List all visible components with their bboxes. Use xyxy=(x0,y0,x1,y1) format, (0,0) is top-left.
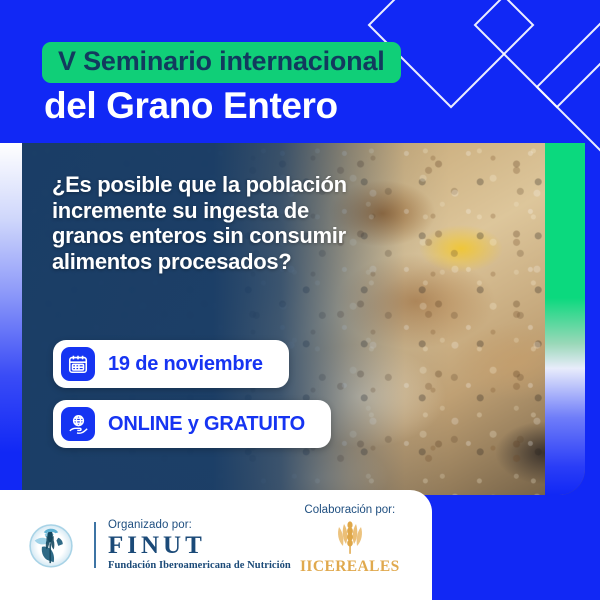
footer-panel: Organizado por: FINUT Fundación Iberoame… xyxy=(0,490,432,600)
organizer-label: Organizado por: xyxy=(108,519,291,531)
collaborator-group: Colaboración por: xyxy=(300,504,400,576)
seminar-pill-label: V Seminario internacional xyxy=(42,42,401,83)
poster-canvas: V Seminario internacional del Grano Ente… xyxy=(0,0,600,600)
finut-tagline: Fundación Iberoamericana de Nutrición xyxy=(108,560,291,571)
question-headline: ¿Es posible que la población incremente … xyxy=(52,172,382,275)
right-edge-gradient xyxy=(545,143,585,495)
title-block: V Seminario internacional del Grano Ente… xyxy=(42,42,401,126)
footer-divider xyxy=(94,522,96,568)
badge-date-label: 19 de noviembre xyxy=(108,353,263,376)
page-title: del Grano Entero xyxy=(44,86,401,126)
collaborator-label: Colaboración por: xyxy=(304,504,395,516)
globe-hand-icon xyxy=(61,407,95,441)
badge-online-label: ONLINE y GRATUITO xyxy=(108,413,305,436)
wheat-icon xyxy=(333,519,367,557)
finut-wordmark: FINUT xyxy=(108,533,291,558)
finut-emblem-icon xyxy=(22,516,80,574)
info-badges: 19 de noviembre ONLINE y GRATUITO xyxy=(53,340,331,448)
organizer-group: Organizado por: FINUT Fundación Iberoame… xyxy=(22,516,291,574)
left-edge-gradient xyxy=(0,143,22,495)
badge-online[interactable]: ONLINE y GRATUITO xyxy=(53,400,331,448)
calendar-icon xyxy=(61,347,95,381)
badge-date[interactable]: 19 de noviembre xyxy=(53,340,289,388)
cereales-wordmark: IICEREALES xyxy=(300,558,400,576)
